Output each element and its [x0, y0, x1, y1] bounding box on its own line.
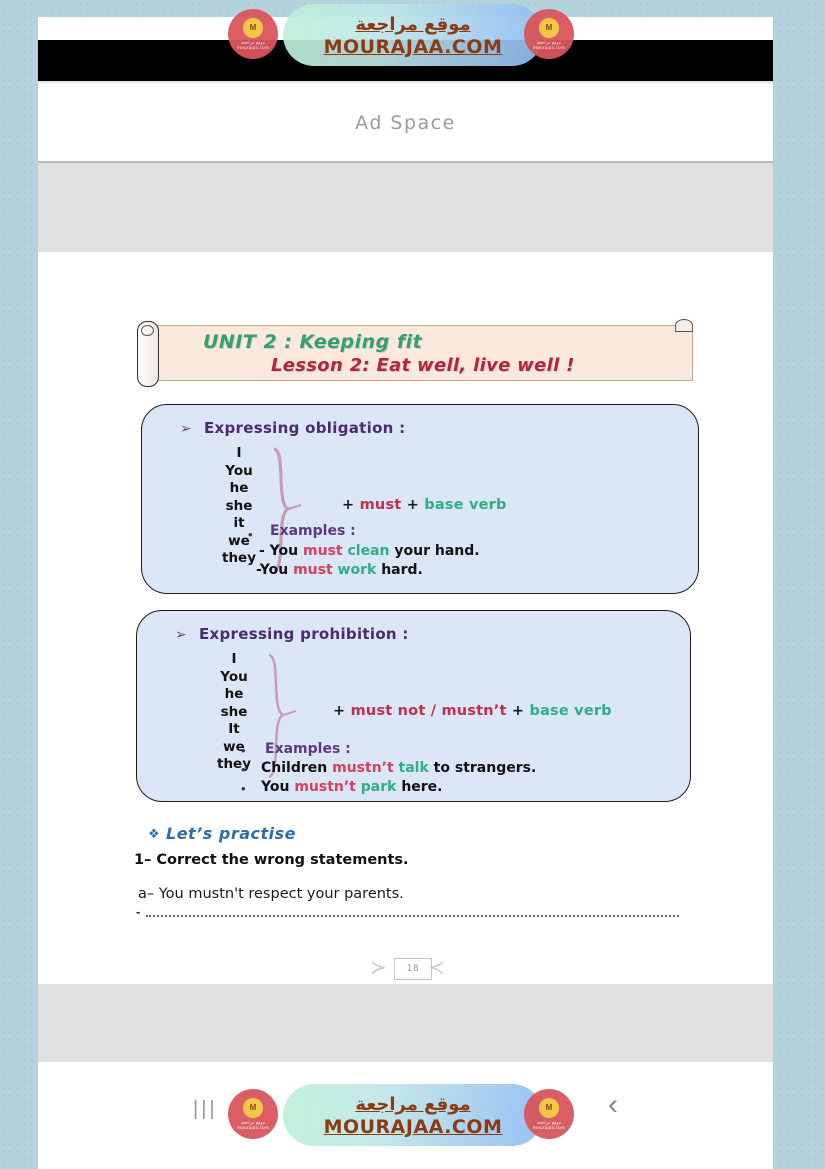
bullet-icon: • [241, 743, 246, 758]
base-verb-word: base verb [529, 703, 611, 719]
example-sentence: -You must work hard. [256, 562, 423, 578]
example-prefix: - You [259, 543, 303, 559]
ad-space-label: Ad Space [355, 112, 456, 134]
example-prefix: Children [261, 760, 332, 776]
pronoun-item: he [212, 480, 266, 498]
worksheet-page: UNIT 2 : Keeping fit Lesson 2: Eat well,… [38, 252, 773, 984]
pronoun-item: It [207, 721, 261, 739]
back-icon[interactable]: ‹ [608, 1088, 618, 1122]
pronoun-item: it [212, 515, 266, 533]
arrow-bullet-icon: ➢ [180, 420, 192, 437]
pronoun-item: she [212, 498, 266, 516]
pronoun-item: we [207, 739, 261, 757]
unit-title: UNIT 2 : Keeping fit [203, 331, 422, 353]
bullet-icon: • [248, 527, 253, 542]
example-prefix: -You [256, 562, 293, 578]
ribbon-wing-right-icon: ≺ [428, 957, 452, 979]
example-rest: your hand. [394, 543, 479, 559]
pronoun-item: I [207, 651, 261, 669]
app-window: Ad Space UNIT 2 : Keeping fit Lesson 2: … [38, 17, 773, 1169]
grey-filler-top [38, 163, 773, 252]
answer-dotted-line [146, 914, 679, 917]
app-top-bar [38, 40, 773, 81]
bullet-icon: • [241, 781, 246, 796]
practise-title: Let’s practise [166, 824, 296, 843]
title-scroll-banner: UNIT 2 : Keeping fit Lesson 2: Eat well,… [133, 317, 693, 385]
example-rest: hard. [381, 562, 423, 578]
pronoun-item: we [212, 533, 266, 551]
scroll-curl-left-icon [137, 321, 159, 387]
formula-obligation: + must + base verb [342, 497, 507, 513]
pronoun-item: I [212, 445, 266, 463]
exercise-item-a: a– You mustn't respect your parents. [138, 886, 404, 902]
example-verb: talk [399, 760, 434, 776]
plus-sign-1: + [342, 497, 354, 513]
pronoun-list: I You he she it we they [212, 445, 266, 568]
example-modal: mustn’t [294, 779, 360, 795]
example-prefix: You [261, 779, 294, 795]
pronoun-item: You [212, 463, 266, 481]
base-verb-word: base verb [424, 497, 506, 513]
ad-space-banner[interactable]: Ad Space [38, 84, 773, 162]
example-sentence: You mustn’t park here. [261, 779, 443, 795]
modal-word: must [360, 497, 402, 513]
plus-sign-1: + [333, 703, 345, 719]
rule-box-heading: Expressing prohibition : [199, 625, 409, 643]
arrow-bullet-icon: ➢ [175, 626, 187, 643]
example-rest: here. [401, 779, 442, 795]
plus-sign-2: + [512, 703, 524, 719]
formula-prohibition: + must not / mustn’t + base verb [333, 703, 612, 719]
plus-sign-2: + [407, 497, 419, 513]
lesson-title: Lesson 2: Eat well, live well ! [271, 355, 575, 376]
pronoun-item: You [207, 669, 261, 687]
example-modal: mustn’t [332, 760, 398, 776]
android-nav-bar: ||| ‹ [38, 1062, 773, 1169]
example-sentence: Children mustn’t talk to strangers. [261, 760, 536, 776]
pronoun-item: she [207, 704, 261, 722]
examples-label: Examples : [265, 741, 351, 757]
ribbon-wing-left-icon: ≻ [370, 957, 394, 979]
diamond-bullet-icon: ❖ [148, 826, 160, 842]
modal-word: must not / mustn’t [351, 703, 507, 719]
examples-label: Examples : [270, 523, 356, 539]
example-sentence: - You must clean your hand. [259, 543, 480, 559]
example-modal: must [293, 562, 337, 578]
pronoun-item: he [207, 686, 261, 704]
rule-box-prohibition: ➢ Expressing prohibition : I You he she … [136, 610, 691, 802]
example-verb: park [361, 779, 402, 795]
grey-filler-bottom [38, 984, 773, 1062]
example-modal: must [303, 543, 347, 559]
example-verb: clean [347, 543, 394, 559]
rule-box-obligation: ➢ Expressing obligation : I You he she i… [141, 404, 699, 594]
rule-box-heading: Expressing obligation : [204, 419, 405, 437]
page-number-ribbon: ≻ 18 ≺ [370, 954, 452, 982]
example-verb: work [338, 562, 382, 578]
example-rest: to strangers. [434, 760, 537, 776]
page-number: 18 [394, 958, 432, 980]
pronoun-list: I You he she It we they [207, 651, 261, 774]
pronoun-item: they [207, 756, 261, 774]
bullet-icon: • [241, 762, 246, 777]
answer-dash: - [136, 904, 140, 919]
recent-apps-icon[interactable]: ||| [193, 1098, 218, 1121]
scroll-curl-right-icon [675, 319, 693, 332]
exercise-question: 1– Correct the wrong statements. [134, 852, 409, 868]
